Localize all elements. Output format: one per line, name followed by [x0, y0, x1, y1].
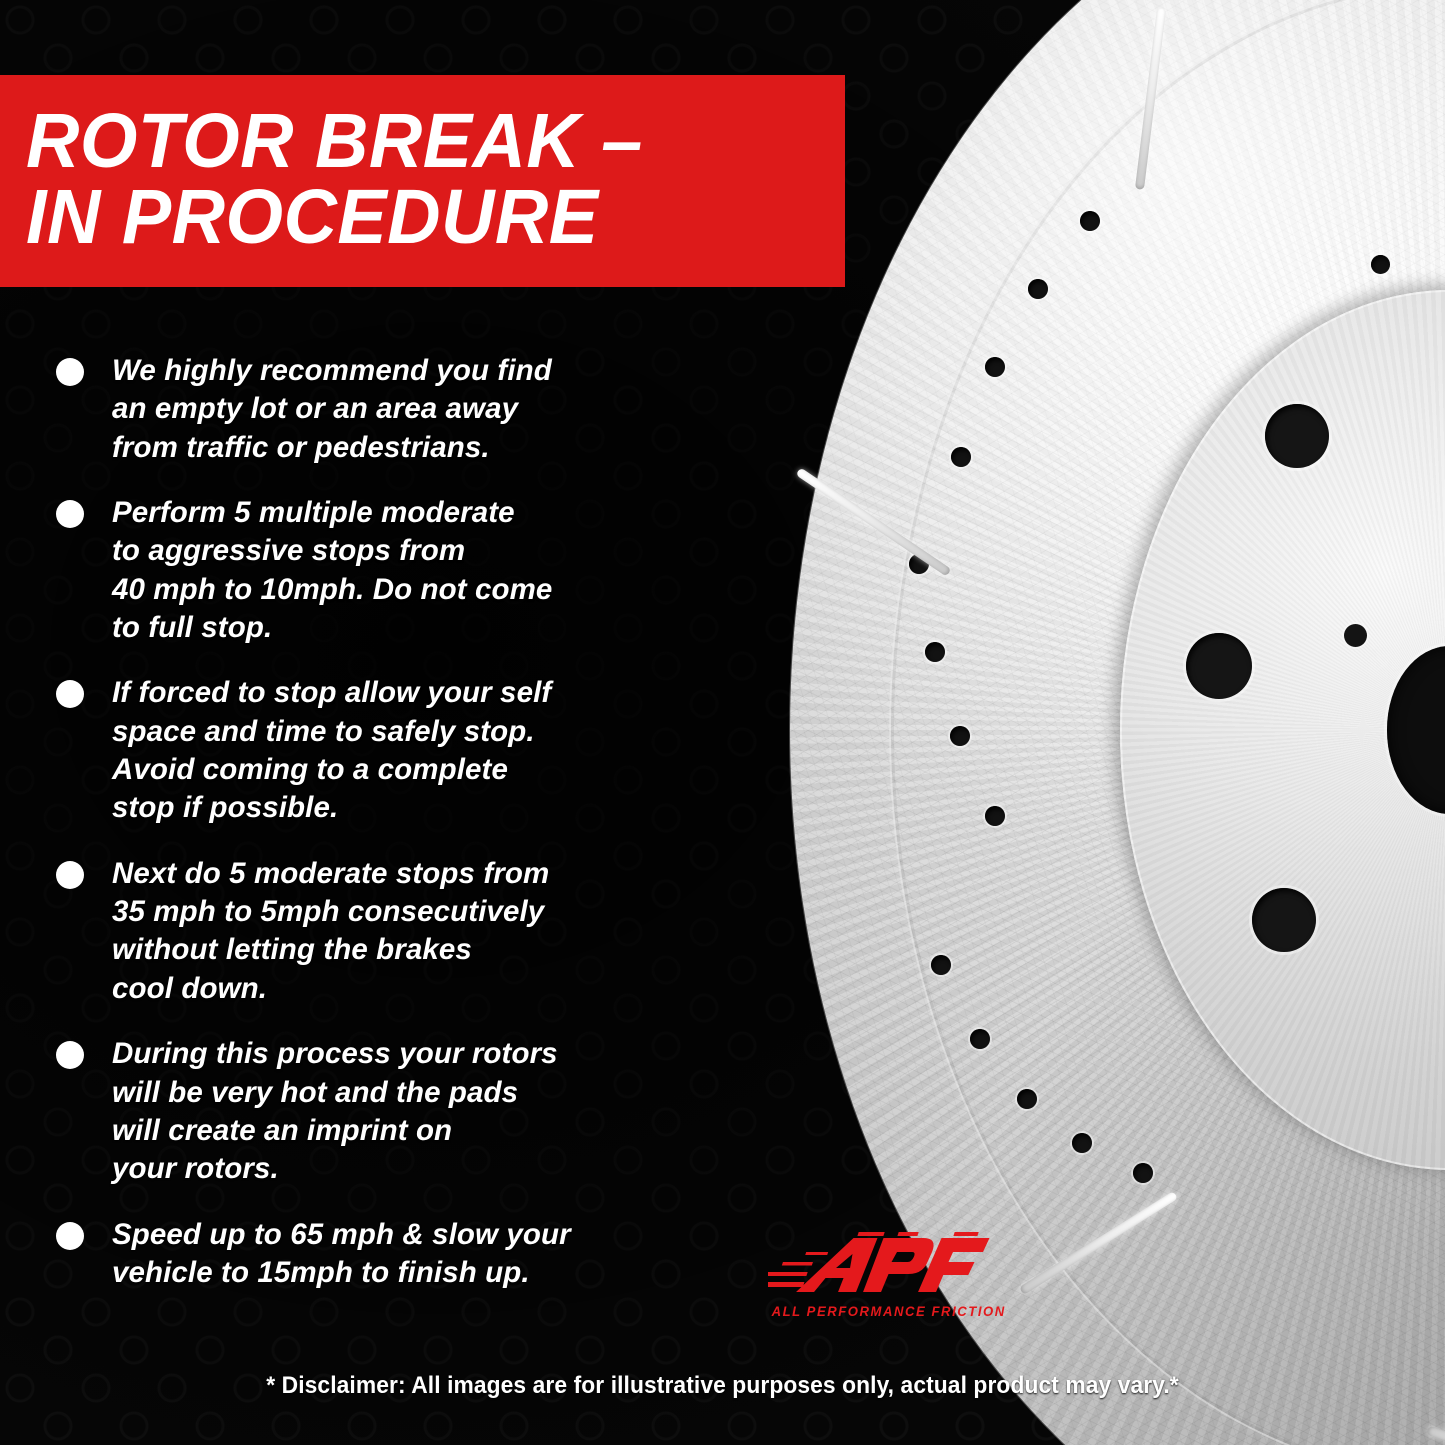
page-title-line-1: ROTOR BREAK – [26, 103, 812, 179]
list-item: Perform 5 multiple moderate to aggressiv… [48, 494, 778, 647]
list-item-text: During this process your rotors will be … [112, 1035, 558, 1188]
apf-logo-icon [768, 1228, 1008, 1302]
list-item: We highly recommend you find an empty lo… [48, 352, 778, 467]
list-item-text: Next do 5 moderate stops from 35 mph to … [112, 855, 549, 1008]
poster: ROTOR BREAK – IN PROCEDURE We highly rec… [0, 0, 1445, 1445]
instruction-list: We highly recommend you find an empty lo… [48, 352, 778, 1319]
bullet-dot-icon [56, 680, 84, 708]
bullet-dot-icon [56, 1041, 84, 1069]
list-item-text: If forced to stop allow your self space … [112, 674, 551, 827]
brand-tagline: ALL PERFORMANCE FRICTION [772, 1304, 1005, 1319]
list-item: Next do 5 moderate stops from 35 mph to … [48, 855, 778, 1008]
bullet-dot-icon [56, 500, 84, 528]
list-item-text: Speed up to 65 mph & slow your vehicle t… [112, 1216, 571, 1293]
list-item-text: Perform 5 multiple moderate to aggressiv… [112, 494, 552, 647]
list-item: If forced to stop allow your self space … [48, 674, 778, 827]
list-item: Speed up to 65 mph & slow your vehicle t… [48, 1216, 778, 1293]
title-banner: ROTOR BREAK – IN PROCEDURE [0, 75, 845, 287]
list-item-text: We highly recommend you find an empty lo… [112, 352, 552, 467]
bullet-dot-icon [56, 1222, 84, 1250]
page-title-line-2: IN PROCEDURE [26, 179, 812, 255]
brand-logo-apf: ALL PERFORMANCE FRICTION [768, 1228, 1008, 1328]
bullet-dot-icon [56, 358, 84, 386]
list-item: During this process your rotors will be … [48, 1035, 778, 1188]
disclaimer-text: * Disclaimer: All images are for illustr… [36, 1372, 1409, 1400]
bullet-dot-icon [56, 861, 84, 889]
